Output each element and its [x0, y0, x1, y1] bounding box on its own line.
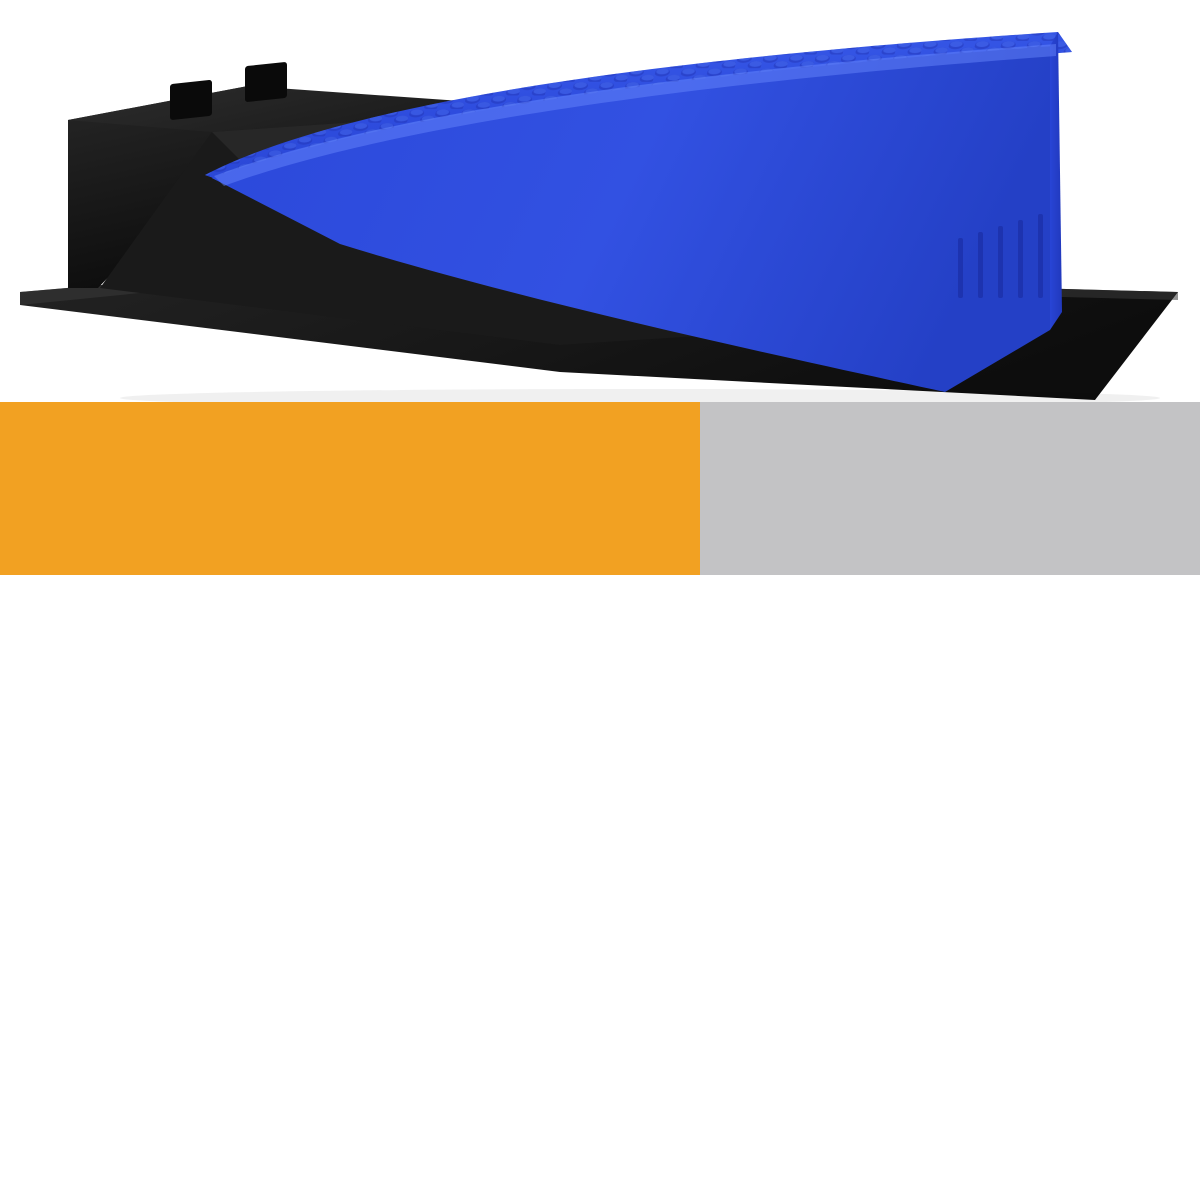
product-photo — [0, 0, 1200, 402]
chock-handle-slot-1 — [170, 80, 212, 120]
chock-handle-slot-2 — [245, 62, 287, 102]
comparison-infographic — [0, 0, 1200, 1200]
comparison-table — [0, 402, 1200, 1200]
header-cell-ours — [0, 402, 700, 575]
product-illustration — [0, 0, 1200, 402]
table-body — [0, 575, 1200, 1200]
table-header-row — [0, 402, 1200, 575]
header-cell-competitors — [700, 402, 1200, 575]
